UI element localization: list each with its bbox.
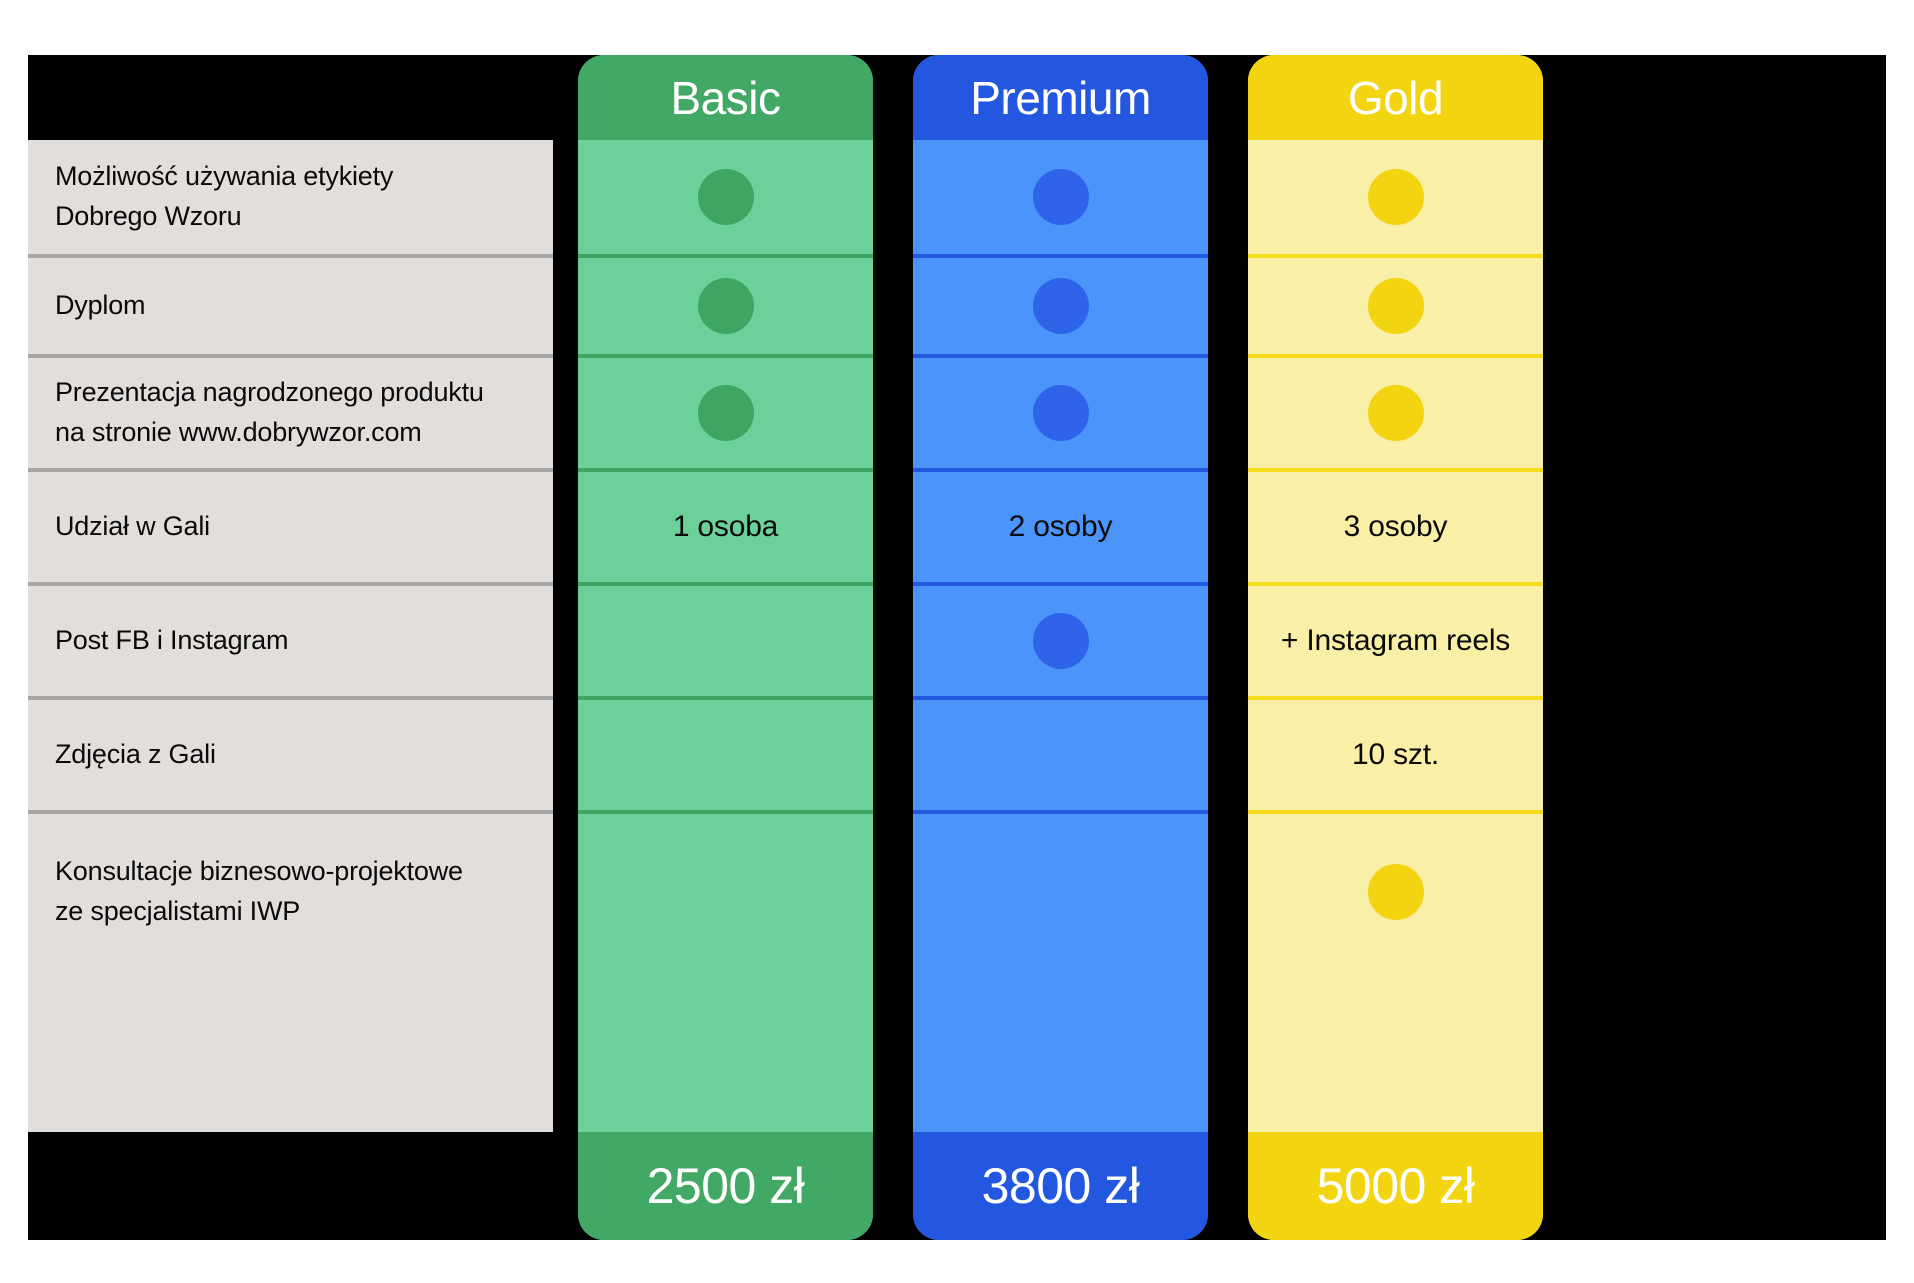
plan-cell	[578, 810, 873, 970]
feature-label-column: Możliwość używania etykietyDobrego Wzoru…	[28, 140, 553, 1132]
plan-cell	[913, 140, 1208, 254]
plan-cell: 10 szt.	[1248, 696, 1543, 810]
feature-label: Post FB i Instagram	[55, 621, 288, 661]
feature-row: Zdjęcia z Gali	[28, 696, 553, 810]
plan-column-gold[interactable]: Gold 3 osoby+ Instagram reels10 szt. 500…	[1248, 55, 1543, 1240]
included-dot-icon	[1033, 278, 1089, 334]
plan-cell-value: 10 szt.	[1352, 738, 1439, 772]
plan-cell	[1248, 810, 1543, 970]
plan-cell	[578, 696, 873, 810]
plan-cell-value: + Instagram reels	[1281, 624, 1510, 658]
plan-column-premium[interactable]: Premium 2 osoby 3800 zł	[913, 55, 1208, 1240]
feature-label: Możliwość używania etykietyDobrego Wzoru	[55, 157, 393, 237]
plan-cell: 2 osoby	[913, 468, 1208, 582]
pricing-comparison-table: Możliwość używania etykietyDobrego Wzoru…	[0, 0, 1914, 1283]
feature-row: Konsultacje biznesowo-projektoweze specj…	[28, 810, 553, 970]
plan-cell	[913, 254, 1208, 354]
plan-header-premium: Premium	[913, 55, 1208, 140]
feature-row: Udział w Gali	[28, 468, 553, 582]
feature-row: Prezentacja nagrodzonego produktuna stro…	[28, 354, 553, 468]
feature-label: Konsultacje biznesowo-projektoweze specj…	[55, 852, 463, 932]
feature-row: Post FB i Instagram	[28, 582, 553, 696]
plan-price-basic: 2500 zł	[578, 1132, 873, 1240]
plan-cell	[913, 696, 1208, 810]
feature-label: Prezentacja nagrodzonego produktuna stro…	[55, 373, 484, 453]
plan-cell	[578, 254, 873, 354]
plan-column-basic[interactable]: Basic 1 osoba 2500 zł	[578, 55, 873, 1240]
included-dot-icon	[698, 278, 754, 334]
plan-cell-value: 1 osoba	[673, 510, 778, 544]
included-dot-icon	[1368, 385, 1424, 441]
included-dot-icon	[1368, 169, 1424, 225]
included-dot-icon	[1368, 864, 1424, 920]
plan-cell	[1248, 140, 1543, 254]
feature-label: Dyplom	[55, 286, 145, 326]
plan-cell	[578, 582, 873, 696]
plan-price-premium: 3800 zł	[913, 1132, 1208, 1240]
plan-cells-basic: 1 osoba	[578, 140, 873, 1132]
feature-label: Zdjęcia z Gali	[55, 735, 216, 775]
feature-row: Możliwość używania etykietyDobrego Wzoru	[28, 140, 553, 254]
plan-cell	[1248, 354, 1543, 468]
included-dot-icon	[1033, 613, 1089, 669]
plan-header-basic: Basic	[578, 55, 873, 140]
included-dot-icon	[698, 385, 754, 441]
feature-label: Udział w Gali	[55, 507, 210, 547]
included-dot-icon	[698, 169, 754, 225]
plan-cells-gold: 3 osoby+ Instagram reels10 szt.	[1248, 140, 1543, 1132]
plan-header-gold: Gold	[1248, 55, 1543, 140]
included-dot-icon	[1368, 278, 1424, 334]
plan-cell: 1 osoba	[578, 468, 873, 582]
feature-row: Dyplom	[28, 254, 553, 354]
included-dot-icon	[1033, 169, 1089, 225]
plan-cell	[1248, 254, 1543, 354]
plan-cell-value: 3 osoby	[1344, 510, 1448, 544]
plan-cell	[913, 582, 1208, 696]
plan-cell: 3 osoby	[1248, 468, 1543, 582]
plan-price-gold: 5000 zł	[1248, 1132, 1543, 1240]
plan-cell	[913, 354, 1208, 468]
plan-cell-value: 2 osoby	[1009, 510, 1113, 544]
plan-cell: + Instagram reels	[1248, 582, 1543, 696]
plan-cell	[578, 140, 873, 254]
plan-cells-premium: 2 osoby	[913, 140, 1208, 1132]
plan-cell	[578, 354, 873, 468]
plan-cell	[913, 810, 1208, 970]
included-dot-icon	[1033, 385, 1089, 441]
